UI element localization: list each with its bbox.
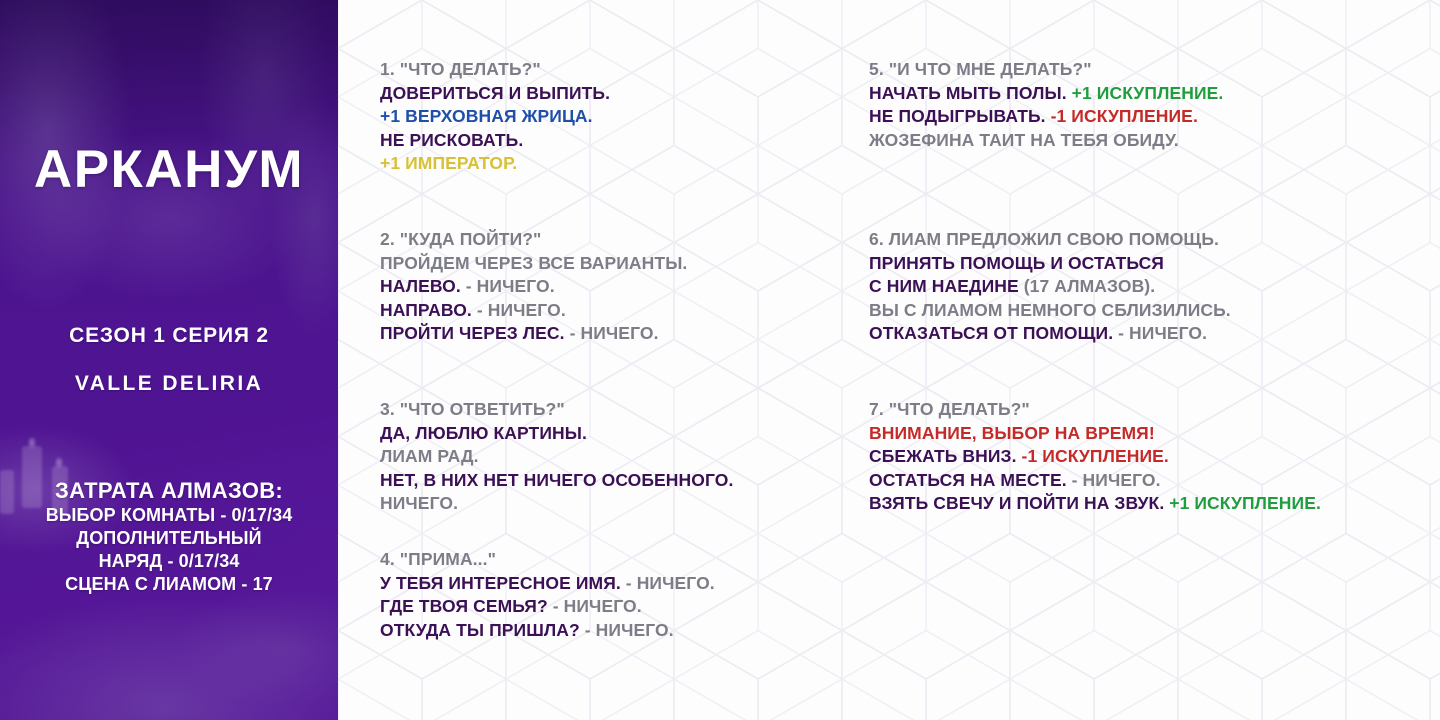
chapter-title: VALLE DELIRIA (0, 372, 338, 395)
choice-line: ПРОЙДЕМ ЧЕРЕЗ ВСЕ ВАРИАНТЫ. (380, 252, 687, 276)
choice-block-5: 5. "И ЧТО МНЕ ДЕЛАТЬ?"НАЧАТЬ МЫТЬ ПОЛЫ. … (869, 58, 1223, 152)
choice-line: НАЛЕВО. - НИЧЕГО. (380, 275, 687, 299)
choice-line: ПРОЙТИ ЧЕРЕЗ ЛЕС. - НИЧЕГО. (380, 322, 687, 346)
diamond-cost-line: ДОПОЛНИТЕЛЬНЫЙ (8, 527, 330, 550)
choice-line: 6. ЛИАМ ПРЕДЛОЖИЛ СВОЮ ПОМОЩЬ. (869, 228, 1231, 252)
choice-text-choice: ПРОЙТИ ЧЕРЕЗ ЛЕС. (380, 323, 565, 343)
choice-text-red: -1 ИСКУПЛЕНИЕ. (1046, 106, 1198, 126)
choice-text-head: 3. "ЧТО ОТВЕТИТЬ?" (380, 399, 565, 419)
choice-text-head: 5. "И ЧТО МНЕ ДЕЛАТЬ?" (869, 59, 1092, 79)
choice-line: У ТЕБЯ ИНТЕРЕСНОЕ ИМЯ. - НИЧЕГО. (380, 572, 715, 596)
choice-line: НЕТ, В НИХ НЕТ НИЧЕГО ОСОБЕННОГО. (380, 469, 733, 493)
choice-line: ОТКУДА ТЫ ПРИШЛА? - НИЧЕГО. (380, 619, 715, 643)
choice-text-head: 4. "ПРИМА..." (380, 549, 496, 569)
choice-text-choice: НЕ РИСКОВАТЬ. (380, 130, 523, 150)
choice-block-6: 6. ЛИАМ ПРЕДЛОЖИЛ СВОЮ ПОМОЩЬ.ПРИНЯТЬ ПО… (869, 228, 1231, 346)
choice-text-neutral: - НИЧЕГО. (1067, 470, 1161, 490)
choice-line: ЖОЗЕФИНА ТАИТ НА ТЕБЯ ОБИДУ. (869, 129, 1223, 153)
walkthrough-page: АРКАНУМ СЕЗОН 1 СЕРИЯ 2 VALLE DELIRIA ЗА… (0, 0, 1440, 720)
diamond-cost-summary: ЗАТРАТА АЛМАЗОВ: ВЫБОР КОМНАТЫ - 0/17/34… (0, 478, 338, 596)
diamond-cost-list: ВЫБОР КОМНАТЫ - 0/17/34ДОПОЛНИТЕЛЬНЫЙНАР… (8, 504, 330, 596)
choice-text-neutral: ЖОЗЕФИНА ТАИТ НА ТЕБЯ ОБИДУ. (869, 130, 1179, 150)
episode-info: СЕЗОН 1 СЕРИЯ 2 VALLE DELIRIA (0, 324, 338, 395)
choice-text-choice: ОТКУДА ТЫ ПРИШЛА? (380, 620, 580, 640)
choice-line: ГДЕ ТВОЯ СЕМЬЯ? - НИЧЕГО. (380, 595, 715, 619)
choice-line: НАПРАВО. - НИЧЕГО. (380, 299, 687, 323)
choice-line: НАЧАТЬ МЫТЬ ПОЛЫ. +1 ИСКУПЛЕНИЕ. (869, 82, 1223, 106)
choice-block-4: 4. "ПРИМА..."У ТЕБЯ ИНТЕРЕСНОЕ ИМЯ. - НИ… (380, 548, 715, 642)
choice-text-red: -1 ИСКУПЛЕНИЕ. (1017, 446, 1169, 466)
choice-text-neutral: (17 АЛМАЗОВ). (1019, 276, 1155, 296)
choice-text-choice: ОТКАЗАТЬСЯ ОТ ПОМОЩИ. (869, 323, 1113, 343)
show-title: АРКАНУМ (0, 143, 338, 196)
choice-line: ЛИАМ РАД. (380, 445, 733, 469)
choice-line: ВНИМАНИЕ, ВЫБОР НА ВРЕМЯ! (869, 422, 1321, 446)
choice-line: 2. "КУДА ПОЙТИ?" (380, 228, 687, 252)
choice-line: 3. "ЧТО ОТВЕТИТЬ?" (380, 398, 733, 422)
choice-text-choice: НАЧАТЬ МЫТЬ ПОЛЫ. (869, 83, 1067, 103)
choice-line: СБЕЖАТЬ ВНИЗ. -1 ИСКУПЛЕНИЕ. (869, 445, 1321, 469)
choice-text-red: ВНИМАНИЕ, ВЫБОР НА ВРЕМЯ! (869, 423, 1155, 443)
choice-text-gold: +1 ИМПЕРАТОР. (380, 153, 517, 173)
choice-columns: 1. "ЧТО ДЕЛАТЬ?"ДОВЕРИТЬСЯ И ВЫПИТЬ.+1 В… (338, 0, 1440, 720)
diamond-cost-line: СЦЕНА С ЛИАМОМ - 17 (8, 573, 330, 596)
choice-text-neutral: НИЧЕГО. (380, 493, 458, 513)
choice-text-choice: ПРИНЯТЬ ПОМОЩЬ И ОСТАТЬСЯ (869, 253, 1164, 273)
choice-line: 4. "ПРИМА..." (380, 548, 715, 572)
choice-block-2: 2. "КУДА ПОЙТИ?"ПРОЙДЕМ ЧЕРЕЗ ВСЕ ВАРИАН… (380, 228, 687, 346)
choice-text-choice: НЕ ПОДЫГРЫВАТЬ. (869, 106, 1046, 126)
choice-text-head: 2. "КУДА ПОЙТИ?" (380, 229, 541, 249)
diamond-cost-line: НАРЯД - 0/17/34 (8, 550, 330, 573)
choice-text-blue: +1 ВЕРХОВНАЯ ЖРИЦА. (380, 106, 593, 126)
choice-text-green: +1 ИСКУПЛЕНИЕ. (1067, 83, 1224, 103)
choice-text-choice: ДА, ЛЮБЛЮ КАРТИНЫ. (380, 423, 587, 443)
choice-line: ВЗЯТЬ СВЕЧУ И ПОЙТИ НА ЗВУК. +1 ИСКУПЛЕН… (869, 492, 1321, 516)
choice-text-neutral: ЛИАМ РАД. (380, 446, 479, 466)
choice-text-neutral: - НИЧЕГО. (472, 300, 566, 320)
choice-text-neutral: - НИЧЕГО. (461, 276, 555, 296)
choices-area: 1. "ЧТО ДЕЛАТЬ?"ДОВЕРИТЬСЯ И ВЫПИТЬ.+1 В… (338, 0, 1440, 720)
title-panel: АРКАНУМ СЕЗОН 1 СЕРИЯ 2 VALLE DELIRIA ЗА… (0, 0, 338, 720)
choice-text-choice: ВЗЯТЬ СВЕЧУ И ПОЙТИ НА ЗВУК. (869, 493, 1164, 513)
choice-line: 1. "ЧТО ДЕЛАТЬ?" (380, 58, 610, 82)
choice-line: НИЧЕГО. (380, 492, 733, 516)
choice-line: +1 ИМПЕРАТОР. (380, 152, 610, 176)
choice-block-7: 7. "ЧТО ДЕЛАТЬ?"ВНИМАНИЕ, ВЫБОР НА ВРЕМЯ… (869, 398, 1321, 516)
choice-line: ОСТАТЬСЯ НА МЕСТЕ. - НИЧЕГО. (869, 469, 1321, 493)
choice-text-choice: ДОВЕРИТЬСЯ И ВЫПИТЬ. (380, 83, 610, 103)
choice-line: 5. "И ЧТО МНЕ ДЕЛАТЬ?" (869, 58, 1223, 82)
choice-line: С НИМ НАЕДИНЕ (17 АЛМАЗОВ). (869, 275, 1231, 299)
choice-line: 7. "ЧТО ДЕЛАТЬ?" (869, 398, 1321, 422)
choice-block-1: 1. "ЧТО ДЕЛАТЬ?"ДОВЕРИТЬСЯ И ВЫПИТЬ.+1 В… (380, 58, 610, 176)
season-episode-label: СЕЗОН 1 СЕРИЯ 2 (0, 324, 338, 347)
choice-text-neutral: ПРОЙДЕМ ЧЕРЕЗ ВСЕ ВАРИАНТЫ. (380, 253, 687, 273)
choice-line: НЕ ПОДЫГРЫВАТЬ. -1 ИСКУПЛЕНИЕ. (869, 105, 1223, 129)
choice-text-choice: ОСТАТЬСЯ НА МЕСТЕ. (869, 470, 1067, 490)
choice-text-head: 1. "ЧТО ДЕЛАТЬ?" (380, 59, 541, 79)
diamond-cost-line: ВЫБОР КОМНАТЫ - 0/17/34 (8, 504, 330, 527)
title-panel-content: АРКАНУМ СЕЗОН 1 СЕРИЯ 2 VALLE DELIRIA ЗА… (0, 0, 338, 720)
diamond-cost-title: ЗАТРАТА АЛМАЗОВ: (8, 478, 330, 504)
choice-text-choice: ГДЕ ТВОЯ СЕМЬЯ? (380, 596, 548, 616)
choice-text-choice: НАПРАВО. (380, 300, 472, 320)
choice-text-choice: СБЕЖАТЬ ВНИЗ. (869, 446, 1017, 466)
choice-text-neutral: - НИЧЕГО. (565, 323, 659, 343)
choice-line: ОТКАЗАТЬСЯ ОТ ПОМОЩИ. - НИЧЕГО. (869, 322, 1231, 346)
choice-text-choice: НАЛЕВО. (380, 276, 461, 296)
choice-line: +1 ВЕРХОВНАЯ ЖРИЦА. (380, 105, 610, 129)
choice-text-neutral: - НИЧЕГО. (1113, 323, 1207, 343)
choice-line: ПРИНЯТЬ ПОМОЩЬ И ОСТАТЬСЯ (869, 252, 1231, 276)
choice-block-3: 3. "ЧТО ОТВЕТИТЬ?"ДА, ЛЮБЛЮ КАРТИНЫ.ЛИАМ… (380, 398, 733, 516)
choice-line: ДОВЕРИТЬСЯ И ВЫПИТЬ. (380, 82, 610, 106)
choice-text-choice: НЕТ, В НИХ НЕТ НИЧЕГО ОСОБЕННОГО. (380, 470, 733, 490)
choice-text-neutral: - НИЧЕГО. (580, 620, 674, 640)
choice-line: НЕ РИСКОВАТЬ. (380, 129, 610, 153)
choice-line: ДА, ЛЮБЛЮ КАРТИНЫ. (380, 422, 733, 446)
choice-text-neutral: ВЫ С ЛИАМОМ НЕМНОГО СБЛИЗИЛИСЬ. (869, 300, 1231, 320)
choice-line: ВЫ С ЛИАМОМ НЕМНОГО СБЛИЗИЛИСЬ. (869, 299, 1231, 323)
choice-text-head: 7. "ЧТО ДЕЛАТЬ?" (869, 399, 1030, 419)
choice-text-neutral: - НИЧЕГО. (621, 573, 715, 593)
choice-text-head: 6. ЛИАМ ПРЕДЛОЖИЛ СВОЮ ПОМОЩЬ. (869, 229, 1219, 249)
choice-text-choice: У ТЕБЯ ИНТЕРЕСНОЕ ИМЯ. (380, 573, 621, 593)
choice-text-choice: С НИМ НАЕДИНЕ (869, 276, 1019, 296)
choice-text-green: +1 ИСКУПЛЕНИЕ. (1164, 493, 1321, 513)
choice-text-neutral: - НИЧЕГО. (548, 596, 642, 616)
